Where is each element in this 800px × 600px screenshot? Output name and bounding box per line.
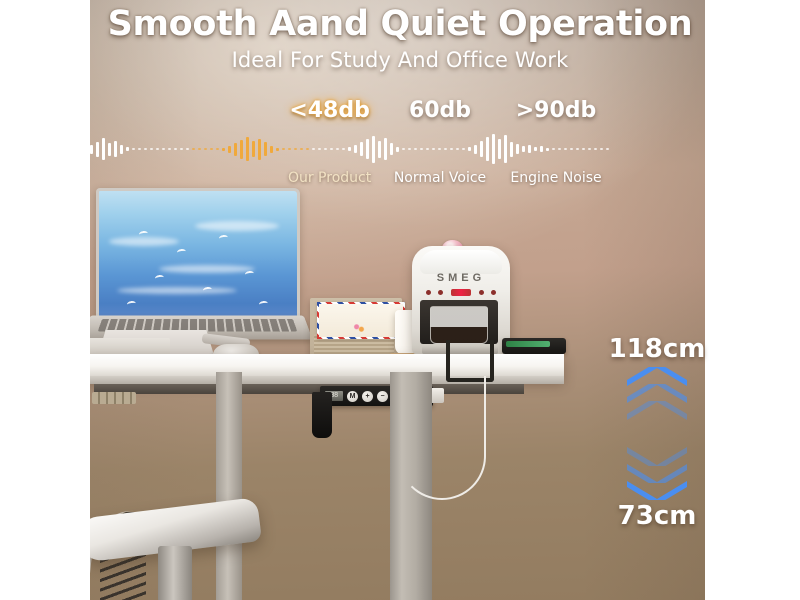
waveform-bar (264, 142, 267, 156)
waveform-bar (402, 148, 405, 150)
waveform-bar (552, 148, 555, 150)
waveform-bar (168, 148, 171, 150)
db-value-label: <48db (289, 98, 370, 123)
waveform-bar (276, 148, 279, 151)
waveform-bar (486, 137, 489, 161)
chevron-down-icon (626, 478, 688, 500)
waveform-bar (372, 136, 375, 163)
waveform-bar (534, 147, 537, 151)
waveform-bar (96, 142, 99, 157)
waveform-bar (594, 148, 597, 150)
up-arrow-group (626, 367, 688, 423)
waveform-bar (462, 148, 465, 150)
waveform-bar (108, 143, 111, 156)
control-box (312, 392, 332, 438)
waveform-bar (504, 135, 507, 163)
waveform-bar (528, 145, 531, 153)
waveform-bar (216, 148, 219, 150)
waveform-bar (234, 143, 237, 156)
cabinet-grill (92, 392, 136, 404)
waveform-bar (102, 138, 105, 160)
waveform-bar (144, 148, 147, 150)
waveform-bar (90, 145, 93, 154)
coffee-carafe (430, 306, 488, 344)
waveform-bar (576, 148, 579, 150)
waveform-bar (564, 148, 567, 150)
waveform-bar (318, 148, 321, 150)
waveform-bar (522, 146, 525, 152)
laptop-keyboard (98, 319, 298, 332)
waveform-bar (192, 148, 195, 150)
waveform-bar (114, 141, 117, 157)
waveform-bar (60, 148, 63, 150)
smeg-brand-label: SMEG (422, 272, 500, 284)
waveform-bar (84, 147, 87, 151)
waveform-bar (420, 148, 423, 150)
waveform-bar (384, 138, 387, 160)
waveform-bar (330, 148, 333, 150)
waveform-bar (66, 148, 69, 150)
waveform-bar (54, 148, 57, 150)
down-arrow-group (626, 444, 688, 500)
waveform-bar (240, 140, 243, 159)
height-range-callout: 118cm 73cm (582, 334, 732, 531)
waveform-bar (12, 148, 15, 150)
waveform-bar (288, 148, 291, 150)
waveform-bar (42, 148, 45, 150)
waveform-bar (78, 148, 81, 150)
db-source-name: Our Product (288, 170, 371, 186)
waveform-bar (378, 141, 381, 158)
headline-block: Smooth Aand Quiet Operation Ideal For St… (0, 4, 800, 72)
waveform-bar (222, 148, 225, 151)
waveform-bar (270, 146, 273, 153)
waveform-bar (606, 148, 609, 150)
waveform-bar (480, 141, 483, 157)
waveform-bar (342, 148, 345, 150)
waveform-bar (540, 146, 543, 152)
waveform-bar (546, 148, 549, 151)
waveform-bar (432, 148, 435, 150)
waveform-bar (126, 147, 129, 151)
waveform-bar (414, 148, 417, 150)
min-height-label: 73cm (582, 501, 732, 531)
noise-waveform (12, 134, 788, 164)
control-button-up[interactable]: + (362, 391, 373, 402)
page-title: Smooth Aand Quiet Operation (0, 4, 800, 44)
waveform-bar (456, 148, 459, 150)
waveform-bar (516, 144, 519, 154)
waveform-bar (426, 148, 429, 150)
waveform-bar (588, 148, 591, 150)
waveform-bar (24, 148, 27, 150)
waveform-bar (252, 141, 255, 157)
smeg-controls (422, 288, 500, 296)
page-subtitle: Ideal For Study And Office Work (0, 48, 800, 72)
waveform-bar (282, 148, 285, 150)
power-cable-loop (398, 376, 486, 500)
control-button-down[interactable]: − (377, 391, 388, 402)
db-source-name: Normal Voice (394, 170, 486, 186)
waveform-bar (324, 148, 327, 150)
waveform-bar (36, 148, 39, 150)
waveform-bar (30, 148, 33, 150)
waveform-bar (450, 148, 453, 150)
waveform-bar (300, 148, 303, 150)
chair-post (158, 546, 192, 600)
waveform-bar (582, 148, 585, 150)
waveform-bar (336, 148, 339, 150)
waveform-bar (132, 148, 135, 150)
waveform-bar (474, 145, 477, 154)
waveform-bar (600, 148, 603, 150)
waveform-bar (228, 146, 231, 153)
waveform-bar (468, 147, 471, 151)
waveform-bar (210, 148, 213, 150)
waveform-bar (18, 148, 21, 150)
waveform-bar (390, 143, 393, 155)
waveform-bar (438, 148, 441, 150)
db-source-name: Engine Noise (510, 170, 601, 186)
waveform-bar (510, 142, 513, 157)
noise-comparison-band: <48dbOur Product60dbNormal Voice>90dbEng… (0, 98, 800, 194)
waveform-bar (366, 139, 369, 159)
waveform-bar (204, 148, 207, 150)
waveform-bar (72, 148, 75, 150)
waveform-bar (198, 148, 201, 150)
waveform-bar (498, 139, 501, 159)
waveform-bar (48, 148, 51, 150)
max-height-label: 118cm (582, 334, 732, 364)
db-value-label: 60db (409, 98, 471, 123)
chevron-up-icon (626, 401, 688, 423)
laptop-screen (96, 188, 300, 319)
waveform-bar (354, 145, 357, 153)
waveform-bar (174, 148, 177, 150)
waveform-bar (180, 148, 183, 150)
waveform-bar (258, 139, 261, 160)
waveform-bar (186, 148, 189, 150)
waveform-bar (408, 148, 411, 150)
waveform-bar (444, 148, 447, 150)
waveform-bar (294, 148, 297, 150)
waveform-bar (360, 142, 363, 156)
waveform-bar (120, 145, 123, 154)
db-value-label: >90db (516, 98, 597, 123)
waveform-bar (306, 148, 309, 150)
waveform-bar (156, 148, 159, 150)
control-button-memory[interactable]: M (347, 391, 358, 402)
product-banner: SMEG 88 M + − 1 2 3 (0, 0, 800, 600)
desk-leg-left (216, 372, 242, 600)
waveform-bar (246, 137, 249, 161)
waveform-bar (492, 134, 495, 164)
waveform-bar (348, 147, 351, 151)
waveform-bar (162, 148, 165, 150)
waveform-bar (312, 148, 315, 150)
airmail-envelope (317, 302, 405, 339)
waveform-bar (138, 148, 141, 150)
waveform-bar (150, 148, 153, 150)
waveform-bar (558, 148, 561, 150)
waveform-bar (570, 148, 573, 150)
waveform-bar (396, 147, 399, 152)
